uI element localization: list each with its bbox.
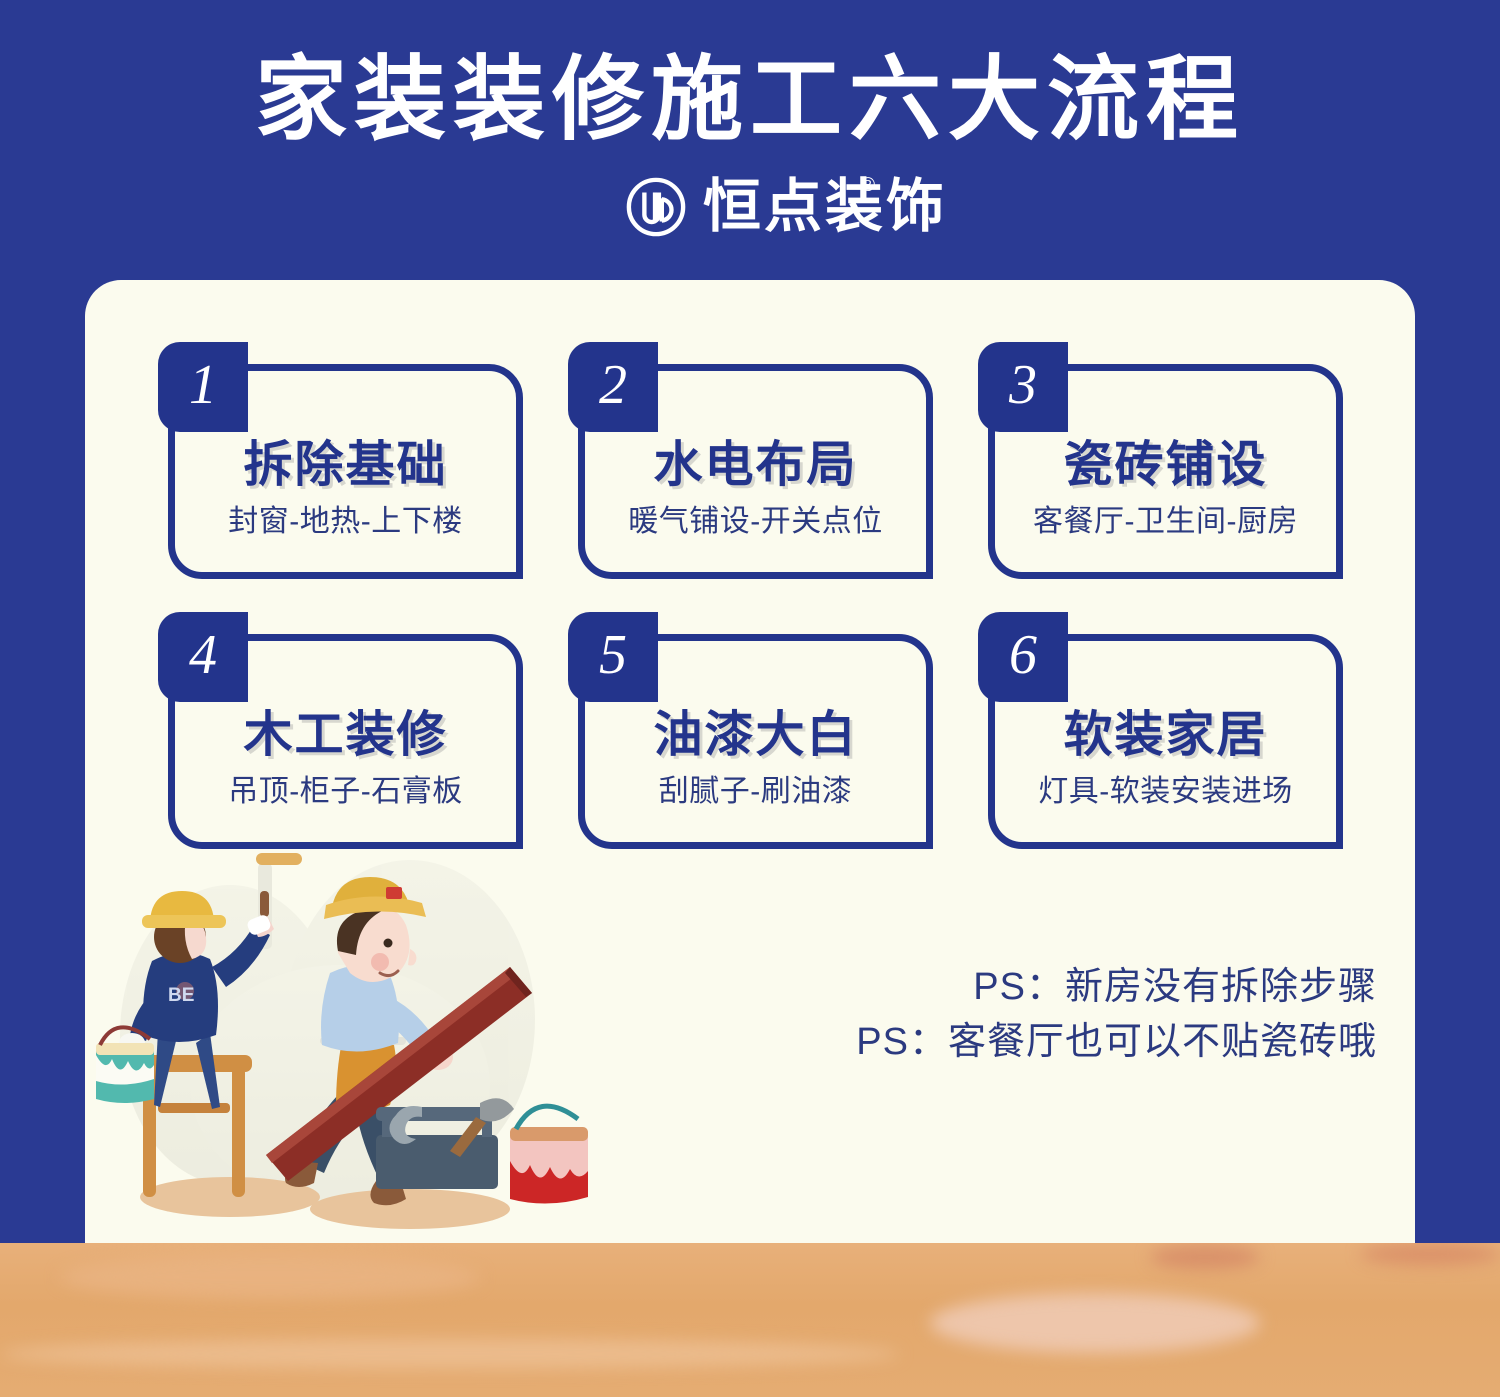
step-title: 拆除基础 bbox=[243, 439, 447, 493]
registered-trademark-icon: ® bbox=[861, 176, 875, 195]
ground-blotch bbox=[0, 1339, 900, 1369]
step-title: 瓷砖铺设 bbox=[1063, 439, 1267, 493]
red-paint-bucket bbox=[510, 1106, 588, 1203]
step-number-badge: 6 bbox=[978, 612, 1068, 702]
ground-blotch bbox=[1360, 1243, 1500, 1265]
step-card-1[interactable]: 1 拆除基础 封窗-地热-上下楼 bbox=[158, 342, 528, 582]
step-subtitle: 暖气铺设-开关点位 bbox=[628, 505, 883, 538]
step-title: 软装家居 bbox=[1063, 709, 1267, 763]
ground-blotch bbox=[60, 1255, 480, 1299]
step-card-6[interactable]: 6 软装家居 灯具-软装安装进场 bbox=[978, 612, 1348, 852]
step-card-2[interactable]: 2 水电布局 暖气铺设-开关点位 bbox=[568, 342, 938, 582]
svg-text:BE: BE bbox=[168, 985, 194, 1006]
step-title: 水电布局 bbox=[653, 439, 857, 493]
step-subtitle: 封窗-地热-上下楼 bbox=[228, 505, 462, 538]
brand-name-wrap: 恒点装饰 ® bbox=[703, 178, 875, 236]
step-number-badge: 5 bbox=[568, 612, 658, 702]
content-panel: 1 拆除基础 封窗-地热-上下楼 2 水电布局 暖气铺设-开关点位 3 瓷砖 bbox=[85, 280, 1415, 1245]
step-card-4[interactable]: 4 木工装修 吊顶-柜子-石膏板 bbox=[158, 612, 528, 852]
step-number: 5 bbox=[568, 612, 658, 702]
step-card-3[interactable]: 3 瓷砖铺设 客餐厅-卫生间-厨房 bbox=[978, 342, 1348, 582]
step-title: 木工装修 bbox=[243, 709, 447, 763]
step-card-5[interactable]: 5 油漆大白 刮腻子-刷油漆 bbox=[568, 612, 938, 852]
two-construction-workers-illustration: BE bbox=[85, 845, 640, 1245]
page-title: 家装装修施工六大流程 bbox=[0, 52, 1500, 150]
step-number: 6 bbox=[978, 612, 1068, 702]
ps-notes: PS：新房没有拆除步骤 PS：客餐厅也可以不贴瓷砖哦 bbox=[856, 960, 1377, 1070]
step-number: 4 bbox=[158, 612, 248, 702]
ground-blotch bbox=[1150, 1245, 1260, 1269]
steps-grid: 1 拆除基础 封窗-地热-上下楼 2 水电布局 暖气铺设-开关点位 3 瓷砖 bbox=[158, 342, 1348, 852]
step-subtitle: 客餐厅-卫生间-厨房 bbox=[1033, 505, 1298, 538]
step-number: 1 bbox=[158, 342, 248, 432]
step-subtitle: 灯具-软装安装进场 bbox=[1038, 775, 1293, 808]
brand-name: 恒点装饰 bbox=[703, 178, 947, 236]
ps-note-2: PS：客餐厅也可以不贴瓷砖哦 bbox=[856, 1015, 1377, 1070]
step-number-badge: 1 bbox=[158, 342, 248, 432]
ground-blotch bbox=[930, 1293, 1260, 1353]
step-number-badge: 2 bbox=[568, 342, 658, 432]
step-number-badge: 4 bbox=[158, 612, 248, 702]
header-banner: 家装装修施工六大流程 恒点装饰 ® bbox=[0, 0, 1500, 280]
hengdian-circle-logo-icon bbox=[625, 176, 687, 238]
step-subtitle: 吊顶-柜子-石膏板 bbox=[228, 775, 462, 808]
step-number: 3 bbox=[978, 342, 1068, 432]
toolbox-with-tools bbox=[376, 1098, 514, 1189]
ground-strip bbox=[0, 1243, 1500, 1397]
brand-lockup: 恒点装饰 ® bbox=[0, 176, 1500, 238]
step-title: 油漆大白 bbox=[653, 709, 857, 763]
ps-note-1: PS：新房没有拆除步骤 bbox=[856, 960, 1377, 1015]
shirt-logo-BE: BE bbox=[168, 982, 194, 1006]
step-number: 2 bbox=[568, 342, 658, 432]
step-subtitle: 刮腻子-刷油漆 bbox=[659, 775, 853, 808]
step-number-badge: 3 bbox=[978, 342, 1068, 432]
